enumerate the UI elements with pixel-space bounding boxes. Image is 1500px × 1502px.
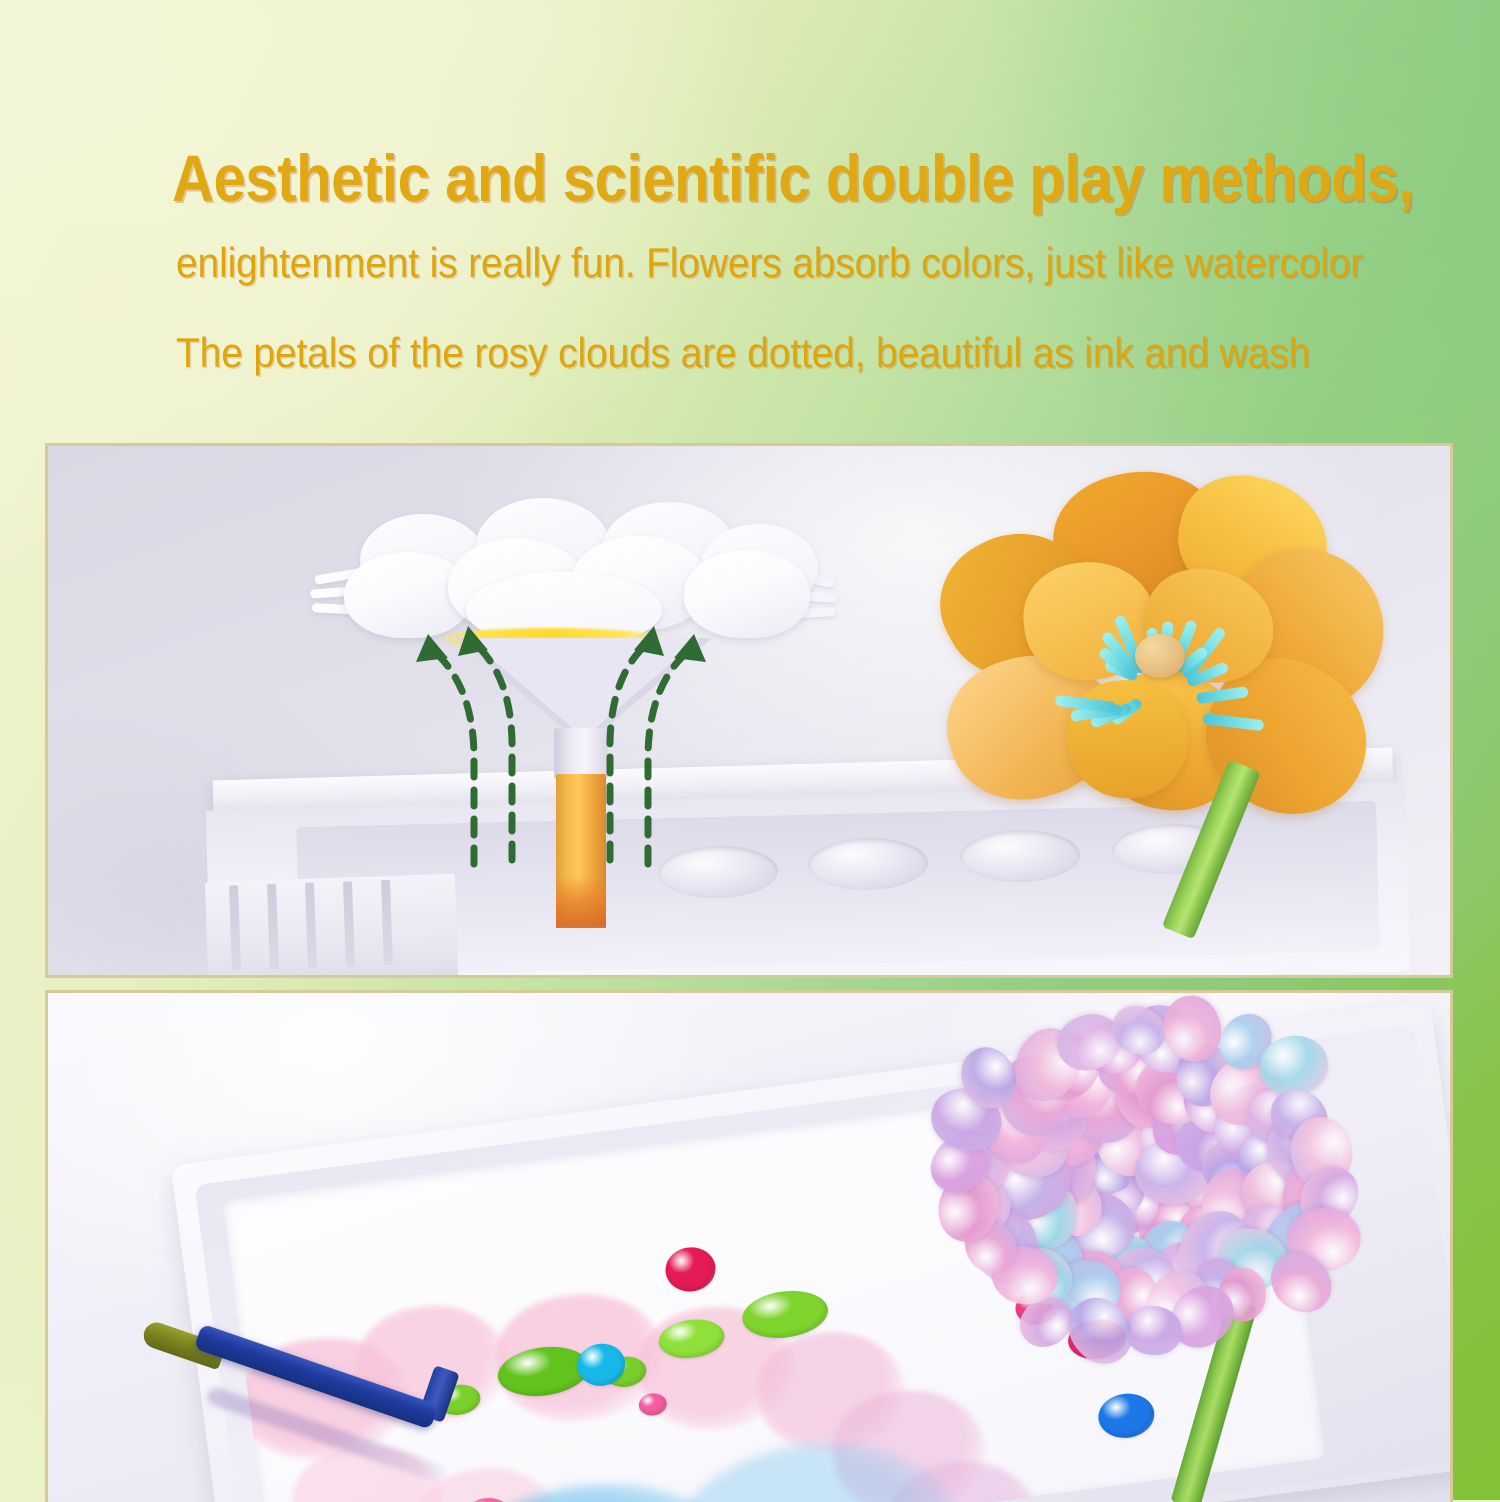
flower-center-bead	[1135, 634, 1185, 678]
bottom-photo-canvas	[48, 993, 1450, 1502]
subtitle-line-1: enlightenment is really fun. Flowers abs…	[176, 238, 1385, 288]
subtitle-line-2: The petals of the rosy clouds are dotted…	[176, 328, 1385, 378]
arrow-svg	[316, 486, 836, 886]
orange-paper-flower	[928, 466, 1448, 886]
header-text-block: Aesthetic and scientific double play met…	[0, 0, 1500, 430]
top-photo-canvas	[48, 446, 1450, 975]
capillary-action-demo-photo	[45, 443, 1453, 978]
arrow-path-left	[428, 646, 474, 864]
capillary-flow-arrows	[316, 486, 836, 886]
watercolor-tray-photo	[45, 990, 1453, 1502]
dyed-pompom-flower	[928, 1003, 1388, 1423]
arrow-head-left	[416, 634, 448, 662]
arrow-path-right	[648, 646, 694, 864]
rack-base	[205, 874, 459, 975]
arrow-head-right	[674, 634, 706, 662]
page-title: Aesthetic and scientific double play met…	[172, 140, 1307, 216]
paint-drop	[663, 1244, 718, 1294]
